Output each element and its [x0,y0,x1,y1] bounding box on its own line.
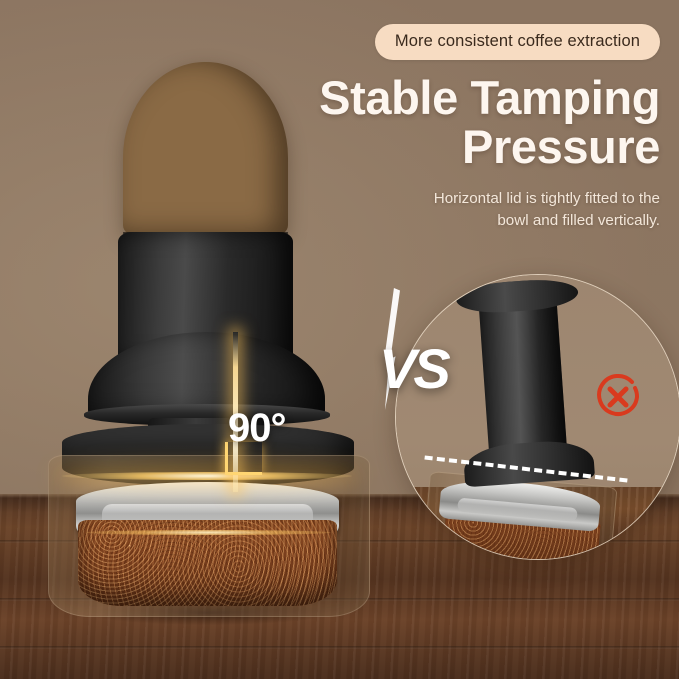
subcopy-line-2: bowl and filled vertically. [256,210,660,233]
vs-label: VS [379,336,448,401]
golden-glow-line [62,472,352,480]
page-title: Stable Tamping Pressure [256,74,660,172]
marketing-copy-block: More consistent coffee extraction Stable… [256,24,660,233]
subcopy-line-1: Horizontal lid is tightly fitted to the [434,190,660,207]
headline-line-1: Stable Tamping [319,71,660,124]
headline-line-2: Pressure [256,123,660,172]
subcopy: Horizontal lid is tightly fitted to the … [256,188,660,233]
inset-tilted-tamper-body [477,279,568,480]
golden-glow-line-secondary [86,530,331,535]
feature-badge: More consistent coffee extraction [375,24,660,60]
angle-label: 90° [228,406,286,451]
comparison-inset-circle [395,274,679,560]
product-banner: 90° VS More consistent coffee extraction… [0,0,679,679]
red-x-icon [592,371,644,423]
